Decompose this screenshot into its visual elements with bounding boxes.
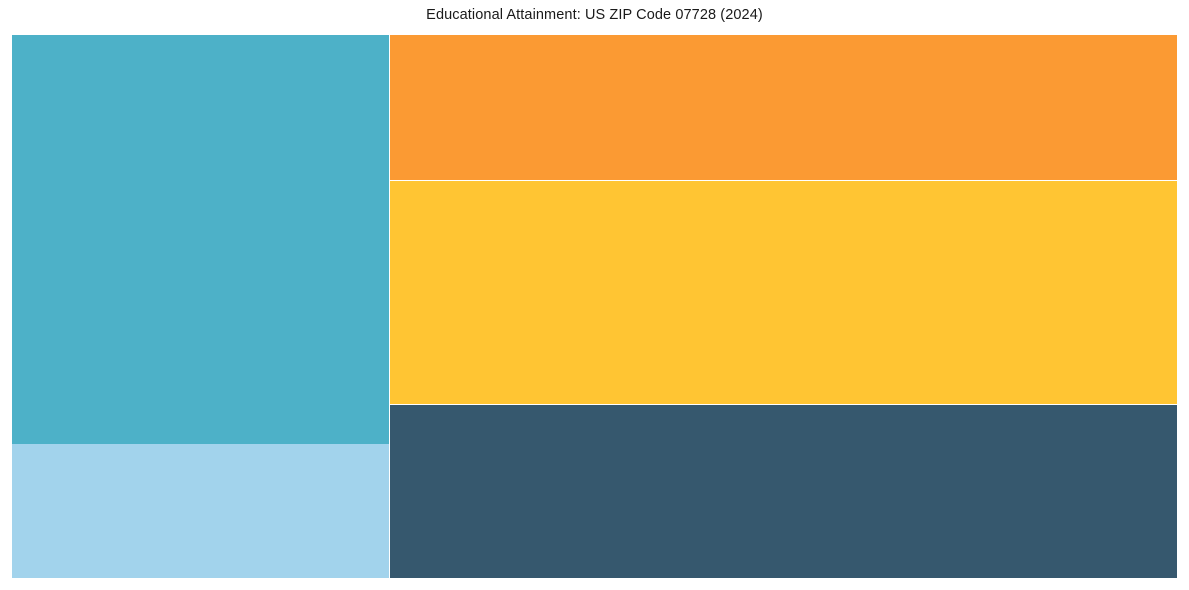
chart-title: Educational Attainment: US ZIP Code 0772… (12, 6, 1177, 24)
treemap-column-left: Some college or associate degree High sc… (12, 35, 389, 578)
treemap-column-right: Less than high school Bachelor's degree … (390, 35, 1177, 578)
treemap-tile-some-college[interactable]: Some college or associate degree (12, 35, 389, 444)
treemap-tile-high-school-graduate[interactable]: High school graduate (12, 444, 389, 578)
treemap-plot-area: Some college or associate degree High sc… (12, 35, 1177, 578)
treemap-tile-less-than-high-school[interactable]: Less than high school (390, 35, 1177, 180)
figure-canvas: Educational Attainment: US ZIP Code 0772… (0, 0, 1189, 590)
treemap-tile-bachelors-degree[interactable]: Bachelor's degree (390, 181, 1177, 404)
treemap-tile-graduate-professional-degree[interactable]: Graduate or professional degree (390, 405, 1177, 578)
